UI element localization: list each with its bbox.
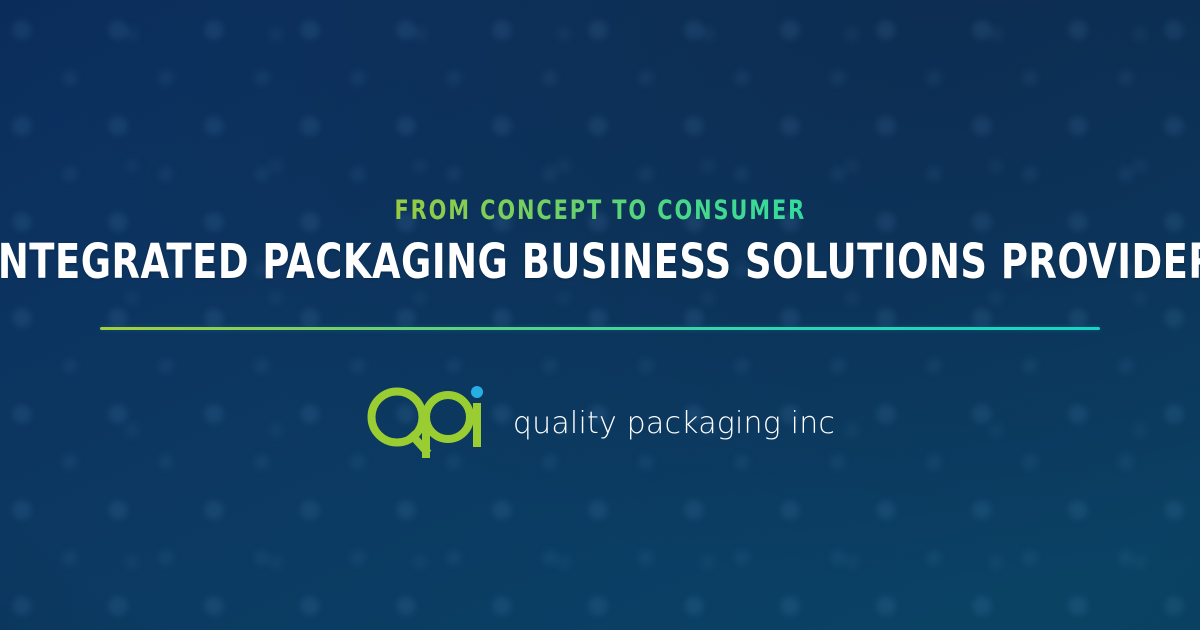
qpi-logo: quality packaging inc (365, 386, 835, 458)
page-title: Integrated Packaging Business Solutions … (0, 238, 1200, 286)
logo-wordmark: quality packaging inc (513, 409, 835, 439)
banner-content: From Concept to Consumer Integrated Pack… (0, 0, 1200, 630)
promotional-banner: From Concept to Consumer Integrated Pack… (0, 0, 1200, 630)
qpi-logomark-icon (365, 386, 489, 458)
eyebrow-tagline: From Concept to Consumer (394, 197, 806, 224)
gradient-divider (100, 327, 1100, 330)
